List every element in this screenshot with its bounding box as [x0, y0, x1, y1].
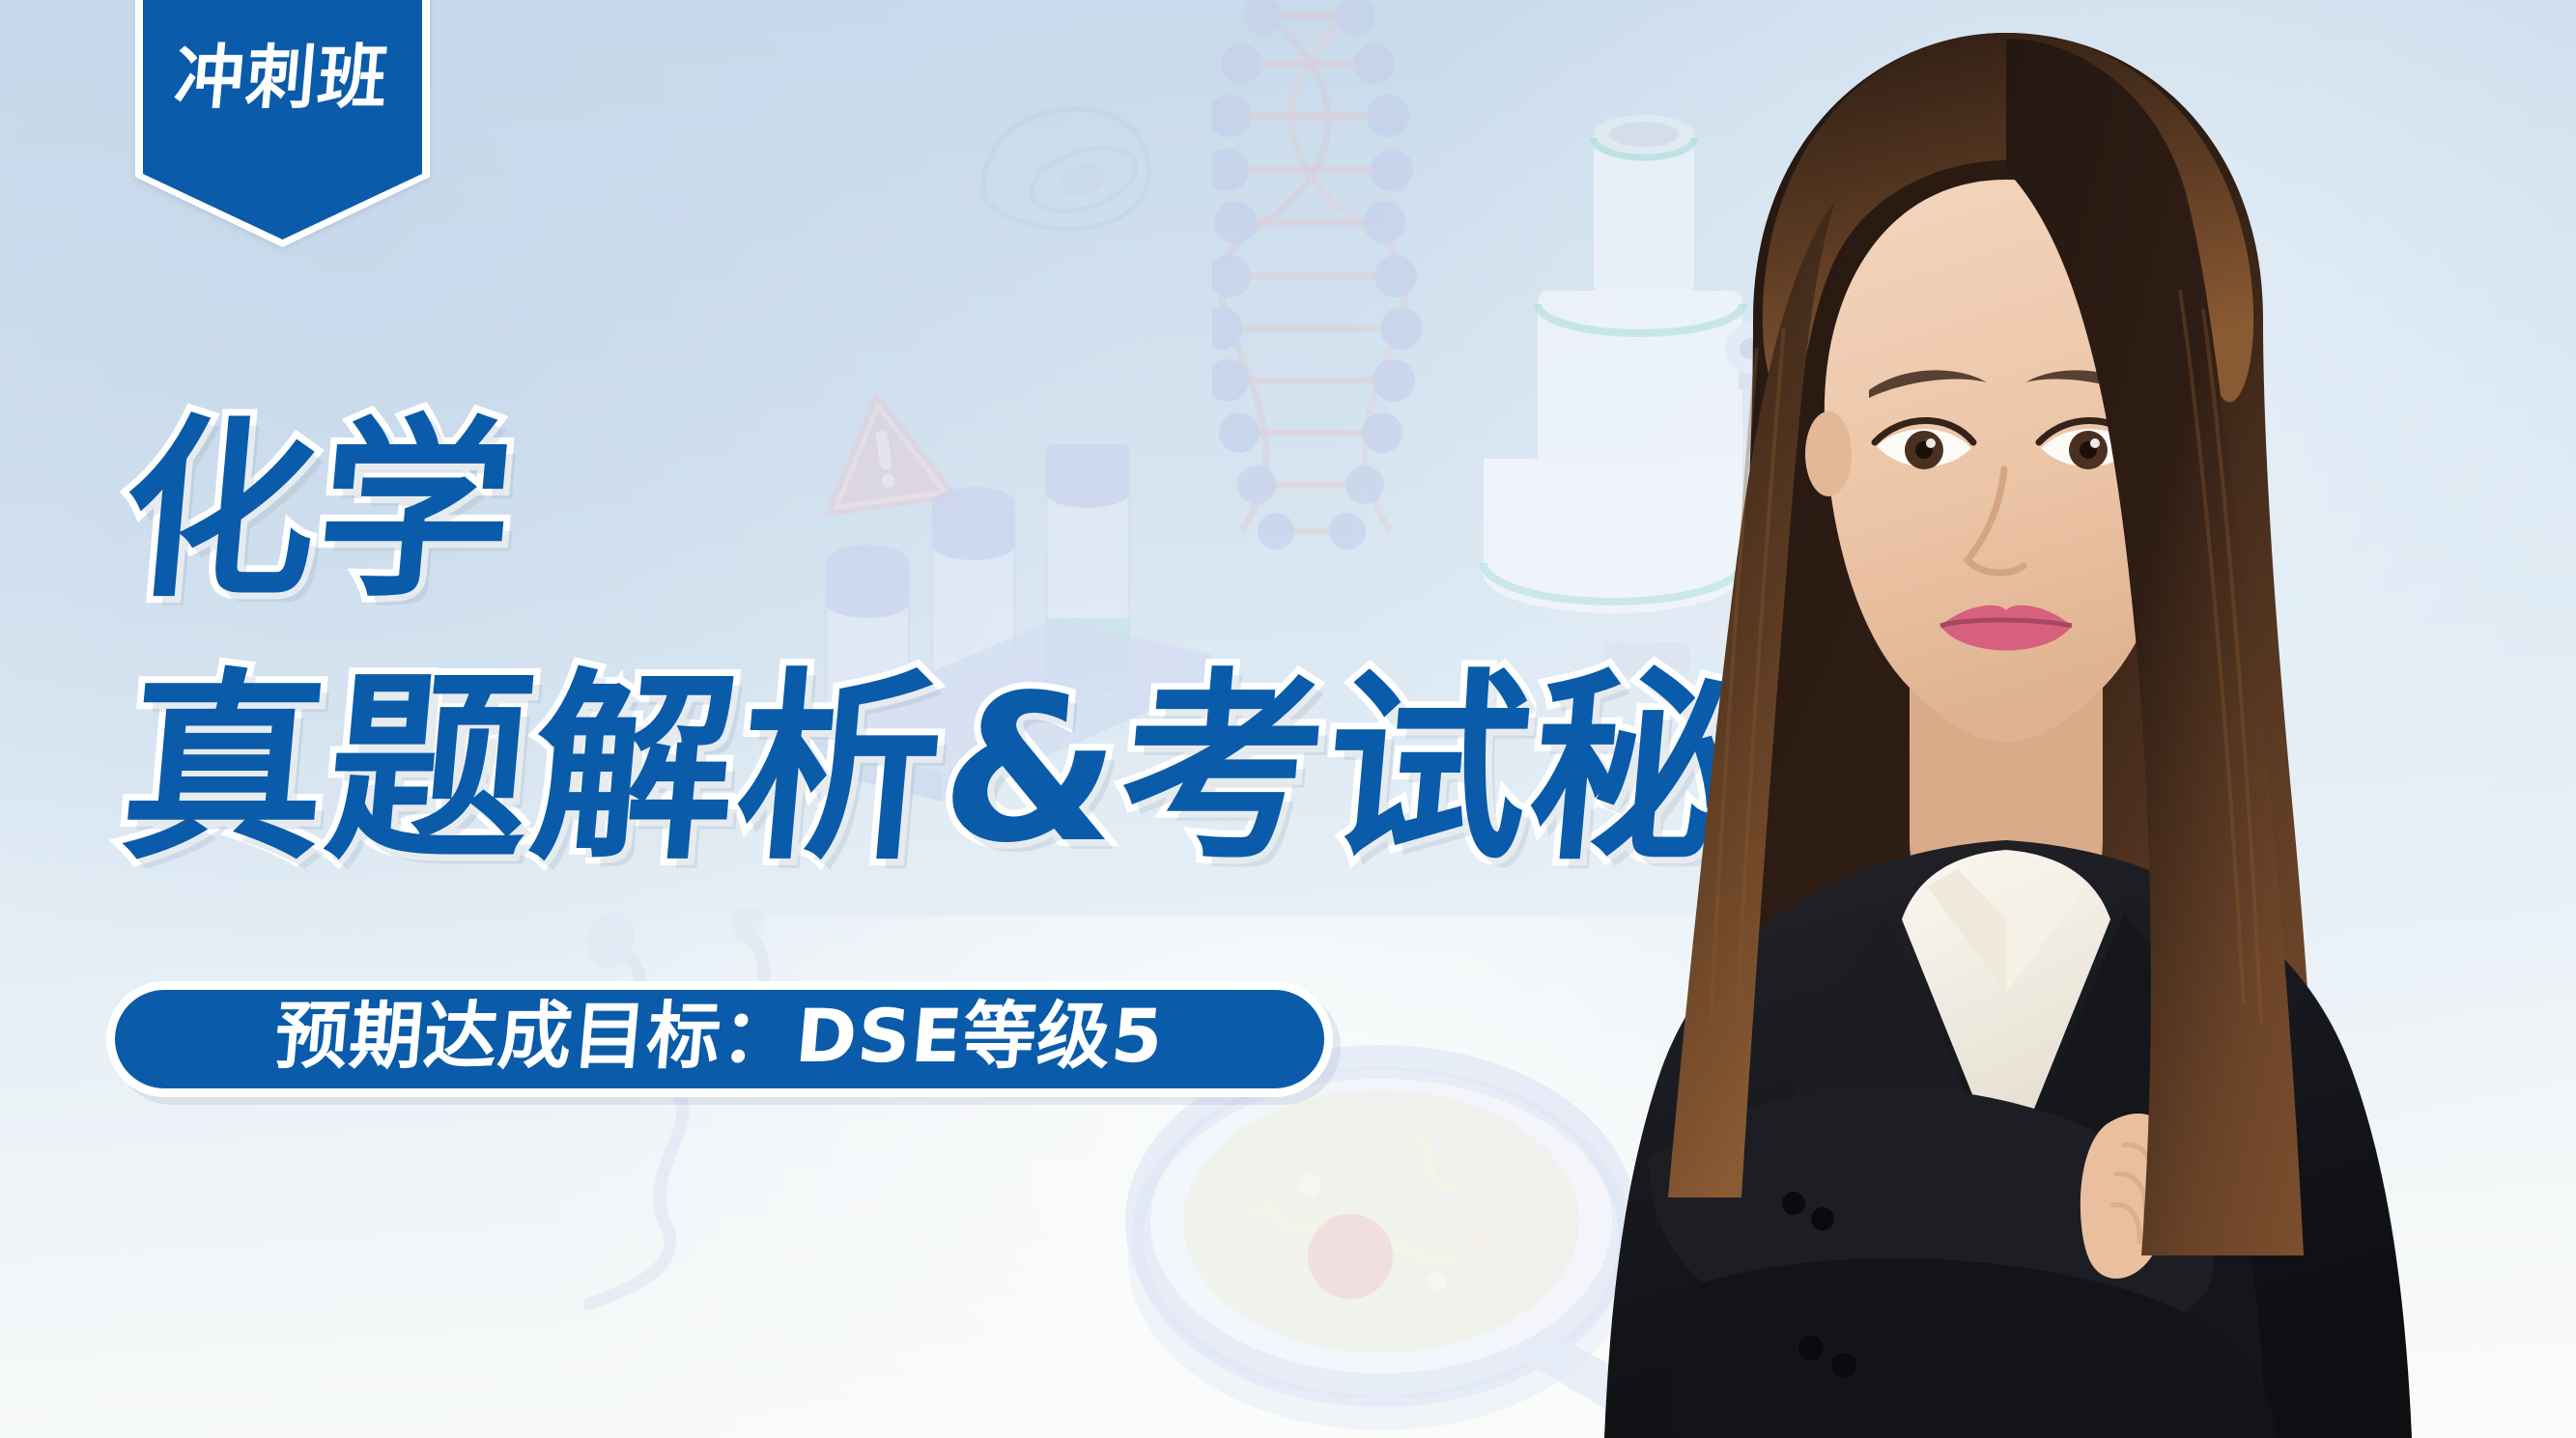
hand — [2081, 1114, 2176, 1279]
ribbon-label: 冲刺班 — [172, 42, 392, 112]
hair-front — [1763, 33, 2253, 402]
lapel-left — [1745, 914, 2006, 1438]
eyebrow-left — [1869, 370, 1987, 398]
ear-right — [2161, 411, 2207, 496]
goal-badge-label: 预期达成目标：DSE等级5 — [272, 1000, 1167, 1073]
eye-cell-icon — [976, 97, 1159, 241]
shirt — [1902, 850, 2110, 1178]
goal-badge-pill: 预期达成目标：DSE等级5 — [106, 981, 1333, 1097]
jacket-buttons — [1782, 1192, 1856, 1378]
suit-jacket — [1604, 840, 2412, 1438]
microbe-squiggle-icon — [551, 908, 869, 1323]
eyebrow-right — [2025, 370, 2143, 398]
lapel-right — [2006, 914, 2267, 1438]
arm-upper — [1649, 1087, 2214, 1343]
collar-left — [1927, 869, 2006, 993]
course-cover-banner: 冲刺班 化学 真题解析&考试秘诀 预期达成目标：DSE等级5 — [0, 0, 2576, 1438]
course-type-ribbon: 冲刺班 — [135, 0, 430, 247]
ribbon-fill: 冲刺班 — [143, 0, 422, 240]
collar-right — [2006, 869, 2085, 993]
arm-lower — [1670, 1258, 2277, 1438]
petri-dish-icon — [1183, 1090, 1579, 1353]
headline-block: 化学 真题解析&考试秘诀 — [124, 415, 2104, 871]
goal-badge: 预期达成目标：DSE等级5 — [106, 981, 1333, 1097]
headline-line-subject: 化学 — [115, 415, 2111, 608]
headline-line-topic: 真题解析&考试秘诀 — [115, 668, 2112, 871]
fingers — [2110, 1144, 2153, 1244]
